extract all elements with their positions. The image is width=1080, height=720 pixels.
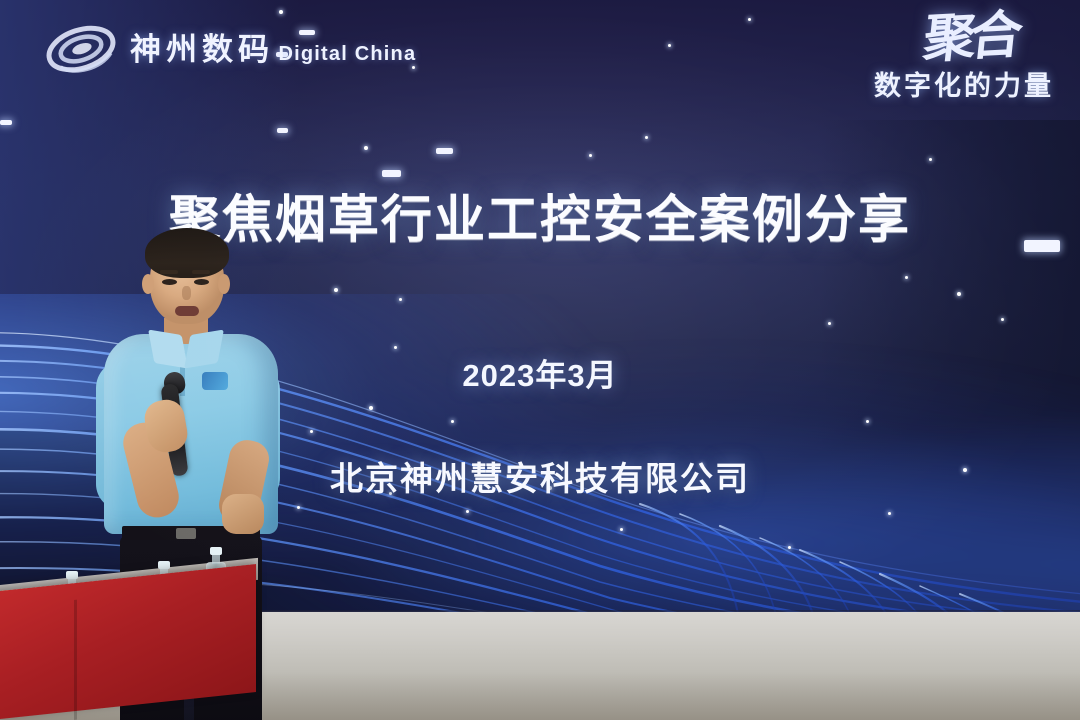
speaker-ear-right [218,274,230,294]
bottle-cap [158,561,170,569]
event-brand-lockup: 聚合 数字化的力量 [874,14,1054,103]
speaker-hair [145,228,229,278]
speaker-eye-right [194,279,209,285]
speaker-mouth [175,306,199,316]
brand-name-cn: 神州数码 [130,32,274,67]
conference-stage-photo: 神州数码 Digital China 聚合 数字化的力量 聚焦烟草行业工控安全案… [0,0,1080,720]
tablecloth-fold [74,600,77,720]
digital-china-swirl-icon [44,16,118,82]
speaker-eyebrow-left [160,270,178,274]
speaker-nose [182,286,191,300]
event-slogan: 数字化的力量 [874,64,1054,103]
digital-china-logo-lockup: 神州数码 Digital China [44,16,416,82]
speaker-eyebrow-right [192,270,210,274]
shirt-chest-logo-icon [202,372,228,390]
event-calligraphy: 聚合 [871,9,1057,66]
head-table [0,545,270,720]
speaker-belt-buckle [176,528,196,539]
speaker-right-hand [222,494,264,534]
speaker-ear-left [142,274,154,294]
red-tablecloth [0,564,256,720]
digital-china-wordmark: 神州数码 Digital China [130,34,416,65]
bottle-cap [66,571,78,579]
brand-name-en: Digital China [278,43,416,65]
bottle-cap [210,547,222,555]
speaker-eye-left [162,279,177,285]
